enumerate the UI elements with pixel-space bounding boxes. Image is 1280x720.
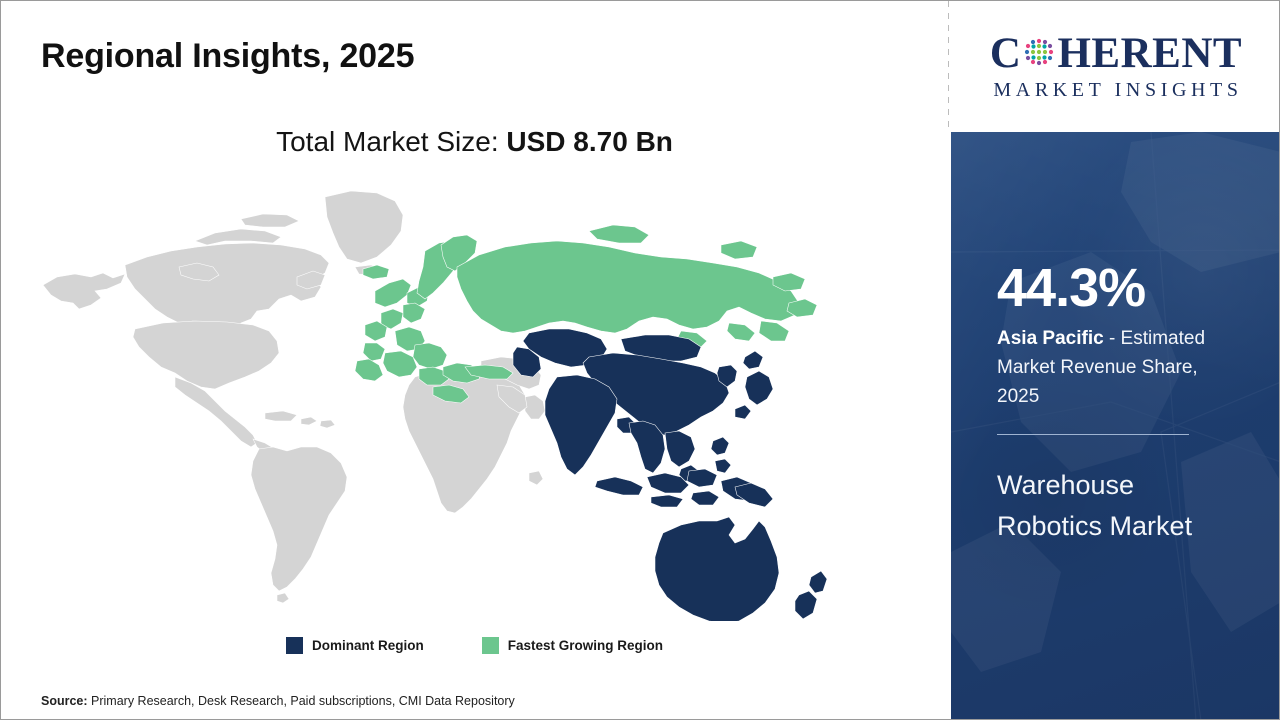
map-region-russia (457, 225, 817, 349)
map-region-greenland (325, 191, 403, 275)
source-note: Source: Primary Research, Desk Research,… (41, 694, 515, 708)
stat-description: Asia Pacific - Estimated Market Revenue … (997, 325, 1245, 412)
total-market-size-value: USD 8.70 Bn (506, 126, 673, 157)
legend-label-dominant: Dominant Region (312, 638, 424, 653)
regional-insights-slide: Regional Insights, 2025 Total Market Siz… (0, 0, 1280, 720)
vertical-dashed-divider (948, 1, 949, 133)
legend-item-dominant: Dominant Region (286, 637, 424, 654)
page-title: Regional Insights, 2025 (41, 37, 414, 76)
map-region-north-america (43, 214, 335, 461)
legend-item-fastest-growing: Fastest Growing Region (482, 637, 663, 654)
map-region-asia-pacific (513, 329, 827, 621)
source-label: Source: (41, 694, 88, 708)
source-text: Primary Research, Desk Research, Paid su… (88, 694, 515, 708)
left-content-pane: Regional Insights, 2025 Total Market Siz… (1, 1, 948, 720)
world-map (29, 181, 839, 621)
logo-subtitle: MARKET INSIGHTS (989, 79, 1242, 102)
stat-panel: 44.3% Asia Pacific - Estimated Market Re… (951, 132, 1280, 720)
total-market-size-label: Total Market Size: (276, 126, 506, 157)
market-name: Warehouse Robotics Market (997, 465, 1245, 547)
stat-content: 44.3% Asia Pacific - Estimated Market Re… (997, 260, 1245, 547)
stat-divider-rule (997, 434, 1189, 435)
stat-value: 44.3% (997, 260, 1245, 316)
logo-word-before: C (990, 32, 1022, 75)
map-region-south-america (251, 447, 347, 603)
square-swatch-icon (286, 637, 303, 654)
square-swatch-icon (482, 637, 499, 654)
map-region-africa (403, 369, 545, 513)
stat-region-name: Asia Pacific (997, 328, 1104, 349)
logo-word-after: HERENT (1057, 32, 1242, 75)
total-market-size: Total Market Size: USD 8.70 Bn (1, 126, 948, 158)
brand-logo: C (951, 1, 1280, 132)
legend-label-fastest-growing: Fastest Growing Region (508, 638, 663, 653)
logo-wordmark: C (990, 32, 1242, 75)
map-legend: Dominant Region Fastest Growing Region (1, 637, 948, 654)
dotted-globe-icon (1022, 35, 1056, 69)
